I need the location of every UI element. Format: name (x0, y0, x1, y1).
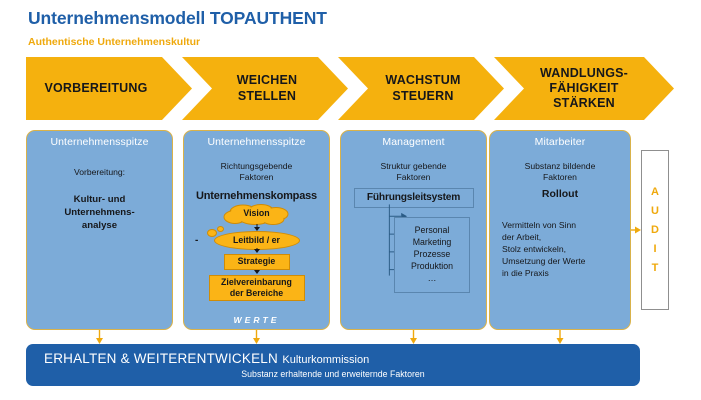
pillar-3-subtitle-line: Struktur gebende (346, 161, 481, 172)
bottom-banner[interactable]: ERHALTEN & WEITERENTWICKELN Kulturkommis… (26, 344, 640, 386)
audit-letter: I (653, 244, 656, 255)
audit-letter: D (651, 225, 659, 236)
werte-label: WERTE (189, 315, 324, 325)
pillar-column-vorbereitung[interactable]: Unternehmensspitze Vorbereitung: Kultur-… (26, 130, 173, 330)
zielvereinbarung-box[interactable]: Zielvereinbarung der Bereiche (209, 275, 305, 301)
strategie-label: Strategie (238, 256, 276, 267)
fuehrungsleitsystem-label: Führungsleitsystem (367, 192, 460, 203)
bottom-banner-light: Kulturkommission (282, 354, 369, 366)
pillar-4-description: Vermitteln von Sinn der Arbeit, Stolz en… (495, 219, 625, 280)
pillar-4-subtitle: Substanz bildende Faktoren (495, 161, 625, 184)
rollout-label: Rollout (495, 188, 625, 202)
bottom-banner-strong: ERHALTEN & WEITERENTWICKELN (44, 351, 278, 366)
phase-chevron-2[interactable] (182, 57, 348, 120)
compass-arrow-head (254, 270, 260, 274)
pillar-4-header: Mitarbeiter (490, 136, 630, 148)
audit-box[interactable]: A U D I T (641, 150, 669, 310)
list-item: Marketing (413, 237, 452, 248)
zielvereinbarung-line: der Bereiche (221, 288, 292, 299)
description-line: der Arbeit, (502, 231, 625, 243)
vision-label: Vision (221, 208, 293, 218)
bottom-banner-title: ERHALTEN & WEITERENTWICKELN Kulturkommis… (44, 350, 369, 368)
leitbild-label: Leitbild / er (215, 235, 299, 245)
description-line: in die Praxis (502, 267, 625, 279)
pillar-3-body: Struktur gebende Faktoren Führungsleitsy… (346, 155, 481, 325)
list-item: Produktion (411, 261, 453, 272)
description-line: Umsetzung der Werte (502, 255, 625, 267)
pillar-1-header: Unternehmensspitze (27, 136, 172, 148)
pillar-2-subtitle: Richtungsgebende Faktoren (189, 161, 324, 184)
pillar-1-main-line: Kultur- und (32, 194, 167, 207)
description-line: Vermitteln von Sinn (502, 219, 625, 231)
pillar-2-body: Richtungsgebende Faktoren Unternehmensko… (189, 155, 324, 325)
list-item: Personal (415, 225, 450, 236)
pillar-2-subtitle-line: Faktoren (189, 172, 324, 183)
pillar-column-weichen-stellen[interactable]: Unternehmensspitze Richtungsgebende Fakt… (183, 130, 330, 330)
audit-letter: T (652, 263, 659, 274)
pillar-4-subtitle-line: Substanz bildende (495, 161, 625, 172)
phase-chevron-band: VORBEREITUNG WEICHEN STELLEN WACHSTUM ST… (26, 57, 674, 120)
pillar-3-subtitle-line: Faktoren (346, 172, 481, 183)
bottom-banner-caption: Substanz erhaltende und erweiternde Fakt… (26, 369, 640, 379)
phase-chevron-4[interactable] (494, 57, 674, 120)
list-item: Prozesse (414, 249, 451, 260)
pillar-2-subtitle-line: Richtungsgebende (189, 161, 324, 172)
leitbild-bubble-small (217, 226, 224, 232)
slide-canvas: Unternehmensmodell TOPAUTHENT Authentisc… (0, 0, 701, 400)
vision-cloud-shape[interactable]: Vision (221, 204, 293, 225)
pillar-1-main: Kultur- und Unternehmens- analyse (32, 194, 167, 232)
audit-letter: A (651, 187, 659, 198)
compass-arrow-head (254, 249, 260, 253)
strategie-box[interactable]: Strategie (224, 254, 290, 270)
pillar-3-header: Management (341, 136, 486, 148)
phase-chevron-1[interactable] (26, 57, 192, 120)
pillar-1-subtitle: Vorbereitung: (32, 167, 167, 178)
pillar-1-body: Vorbereitung: Kultur- und Unternehmens- … (32, 155, 167, 325)
pillar-column-management[interactable]: Management Struktur gebende Faktoren Füh… (340, 130, 487, 330)
unternehmenskompass-title: Unternehmenskompass (189, 190, 324, 202)
phase-chevron-3[interactable] (338, 57, 504, 120)
audit-letter: U (651, 206, 659, 217)
page-subtitle: Authentische Unternehmenskultur (28, 36, 200, 48)
pillar-1-main-line: Unternehmens- (32, 207, 167, 220)
pillar-column-mitarbeiter[interactable]: Mitarbeiter Substanz bildende Faktoren R… (489, 130, 631, 330)
pillar-4-subtitle-line: Faktoren (495, 172, 625, 183)
fuehrungsleitsystem-box[interactable]: Führungsleitsystem (354, 188, 474, 208)
description-line: Stolz entwickeln, (502, 243, 625, 255)
zielvereinbarung-line: Zielvereinbarung (221, 277, 292, 288)
pillar-2-header: Unternehmensspitze (184, 136, 329, 148)
management-sub-list[interactable]: Personal Marketing Prozesse Produktion … (394, 217, 470, 293)
minus-sign: - (195, 235, 198, 246)
list-item: … (428, 273, 437, 284)
pillar-3-subtitle: Struktur gebende Faktoren (346, 161, 481, 184)
pillar-1-main-line: analyse (32, 220, 167, 233)
unternehmenskompass-diagram: Vision - Leitbild / er Strategie (189, 204, 324, 308)
page-title: Unternehmensmodell TOPAUTHENT (28, 8, 327, 29)
pillar-4-body: Substanz bildende Faktoren Rollout Vermi… (495, 155, 625, 325)
